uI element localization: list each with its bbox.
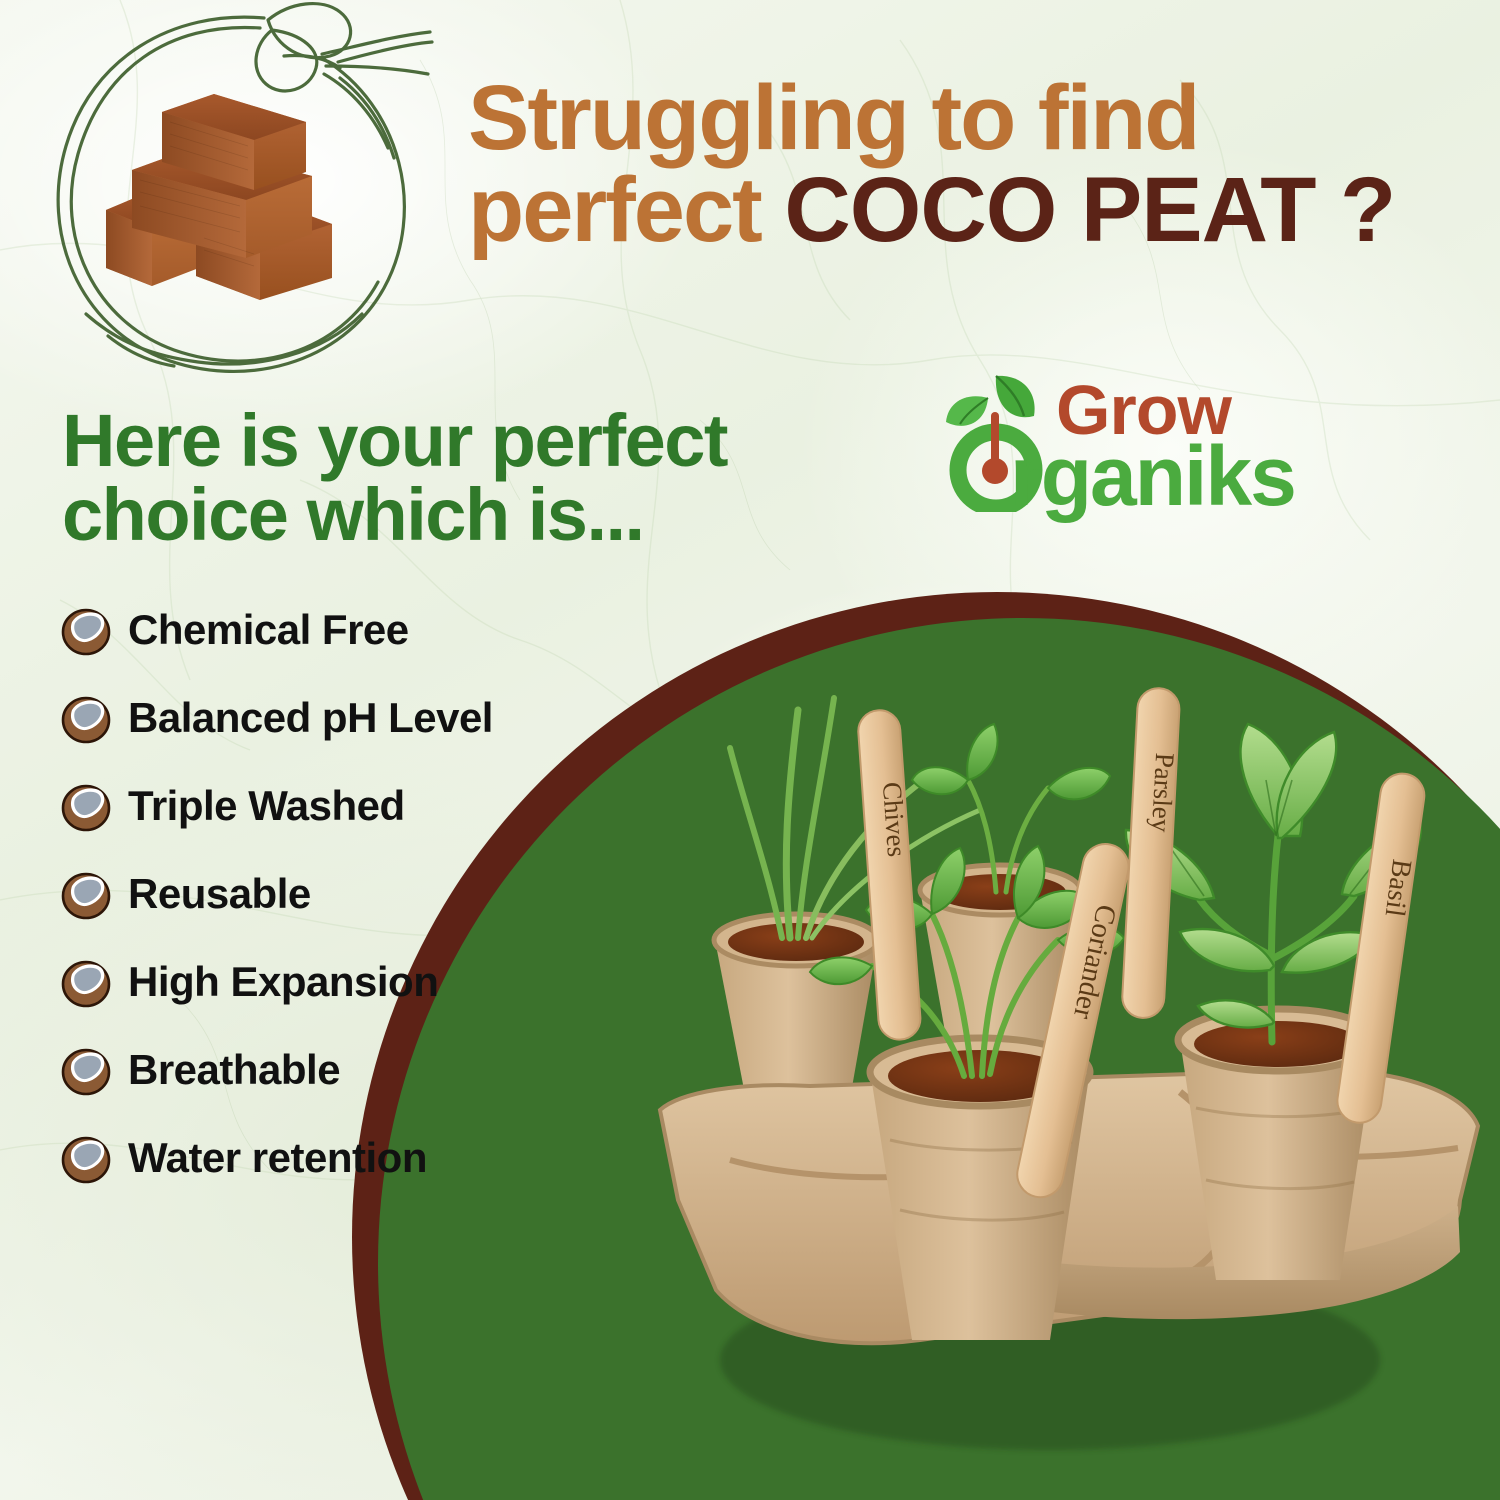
coconut-icon <box>58 602 114 658</box>
list-item-label: Reusable <box>128 870 311 918</box>
list-item: Balanced pH Level <box>58 674 678 762</box>
coco-peat-bricks-icon <box>100 88 365 300</box>
coconut-icon <box>58 866 114 922</box>
headline-line-2: perfect COCO PEAT ? <box>468 166 1478 254</box>
poster-canvas: Struggling to find perfect COCO PEAT ? H… <box>0 0 1500 1500</box>
marker-label-parsley: Parsley <box>1146 752 1180 833</box>
coconut-icon <box>58 690 114 746</box>
marker-label-chives: Chives <box>877 781 912 858</box>
list-item-label: Water retention <box>128 1134 427 1182</box>
list-item: Breathable <box>58 1026 678 1114</box>
list-item: Reusable <box>58 850 678 938</box>
subheadline-line-1: Here is your perfect <box>62 404 822 478</box>
list-item-label: Balanced pH Level <box>128 694 493 742</box>
subheadline-line-2: choice which is... <box>62 478 822 552</box>
headline: Struggling to find perfect COCO PEAT ? <box>468 74 1478 255</box>
subheadline: Here is your perfect choice which is... <box>62 404 822 552</box>
list-item-label: Breathable <box>128 1046 340 1094</box>
list-item: Water retention <box>58 1114 678 1202</box>
list-item-label: High Expansion <box>128 958 438 1006</box>
headline-line-2-dark: COCO PEAT ? <box>784 159 1395 261</box>
headline-line-2-orange: perfect <box>468 159 784 261</box>
list-item: Triple Washed <box>58 762 678 850</box>
seedling-tray-photo: Chives Parsley Coriander Basil <box>620 640 1500 1500</box>
coco-peat-bricks-badge <box>22 0 442 378</box>
coconut-icon <box>58 1130 114 1186</box>
benefits-list: Chemical Free Balanced pH Level Triple W… <box>58 586 678 1202</box>
list-item: High Expansion <box>58 938 678 1026</box>
headline-line-1: Struggling to find <box>468 74 1478 162</box>
logo-word-organiks: rganiks <box>1010 428 1295 525</box>
pot-chives <box>714 914 878 1110</box>
list-item: Chemical Free <box>58 586 678 674</box>
list-item-label: Chemical Free <box>128 606 409 654</box>
list-item-label: Triple Washed <box>128 782 405 830</box>
coconut-icon <box>58 778 114 834</box>
coconut-icon <box>58 954 114 1010</box>
brand-logo: Grow rganiks <box>938 362 1338 522</box>
coconut-icon <box>58 1042 114 1098</box>
